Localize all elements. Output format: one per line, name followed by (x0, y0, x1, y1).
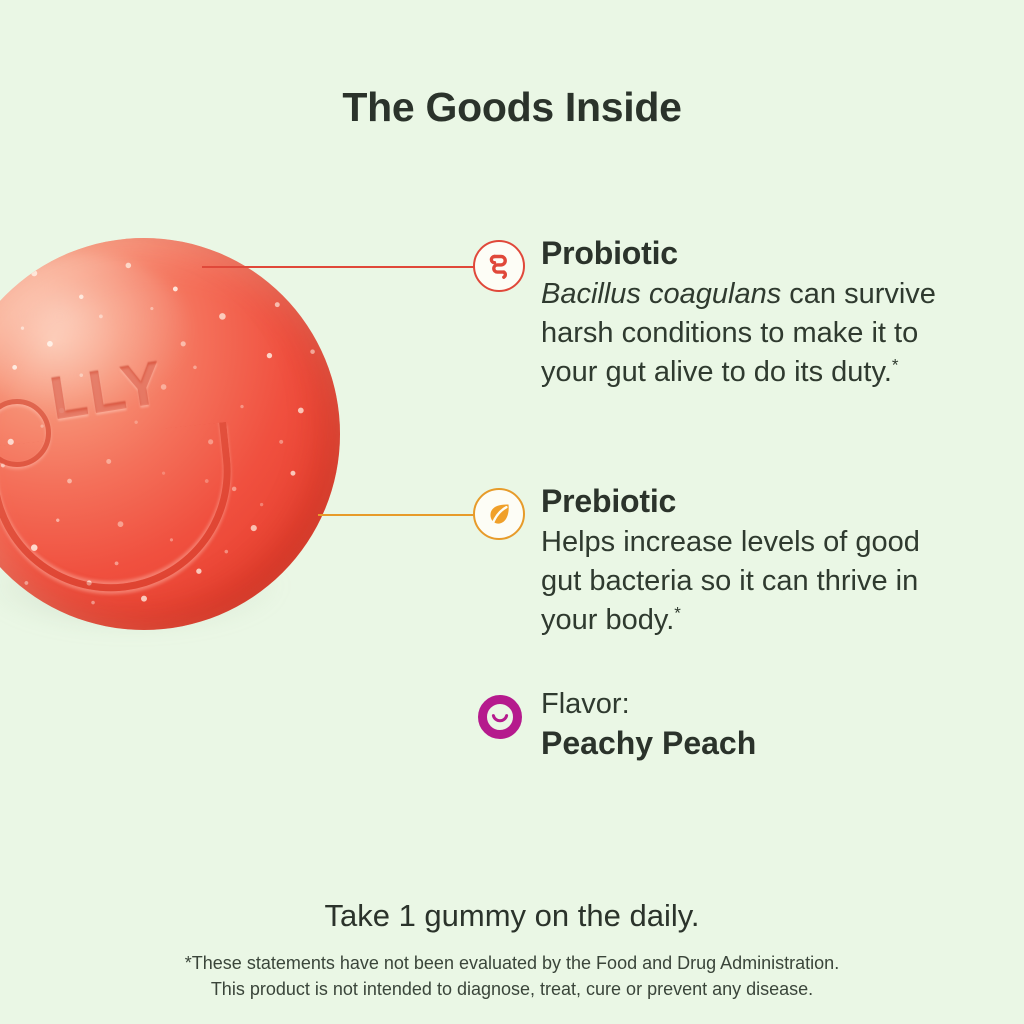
footnote-marker: * (892, 356, 899, 375)
intestine-icon (473, 240, 525, 292)
feature-probiotic-description: Bacillus coagulans can survive harsh con… (541, 275, 961, 392)
flavor-label: Flavor: (541, 686, 961, 722)
feature-prebiotic-description-rest: Helps increase levels of good gut bacter… (541, 526, 920, 636)
infographic-page: The Goods Inside LLY Probiotic (0, 0, 1024, 1024)
smile-ring-icon (473, 690, 527, 744)
connector-line-prebiotic (318, 514, 474, 516)
gummy-product-image: LLY (0, 238, 344, 638)
emboss-brand-text: LLY (45, 347, 168, 433)
fda-disclaimer: *These statements have not been evaluate… (0, 950, 1024, 1002)
footnote-marker: * (674, 604, 681, 623)
fda-disclaimer-line-1: *These statements have not been evaluate… (0, 950, 1024, 976)
feature-probiotic-heading: Probiotic (541, 236, 961, 271)
connector-line-probiotic (202, 266, 474, 268)
dosage-instruction: Take 1 gummy on the daily. (0, 898, 1024, 934)
gummy-emboss-group: LLY (0, 238, 340, 630)
flavor-value: Peachy Peach (541, 724, 961, 762)
feature-prebiotic-heading: Prebiotic (541, 484, 961, 519)
gummy-disc: LLY (0, 238, 340, 630)
feature-prebiotic-description: Helps increase levels of good gut bacter… (541, 523, 961, 640)
feature-probiotic-body: Probiotic Bacillus coagulans can survive… (541, 236, 961, 393)
emboss-smile-icon (0, 422, 243, 603)
page-title: The Goods Inside (0, 84, 1024, 131)
feature-flavor-body: Flavor: Peachy Peach (541, 686, 961, 763)
species-name: Bacillus coagulans (541, 278, 781, 310)
leaf-icon (473, 488, 525, 540)
fda-disclaimer-line-2: This product is not intended to diagnose… (0, 976, 1024, 1002)
feature-prebiotic-body: Prebiotic Helps increase levels of good … (541, 484, 961, 641)
